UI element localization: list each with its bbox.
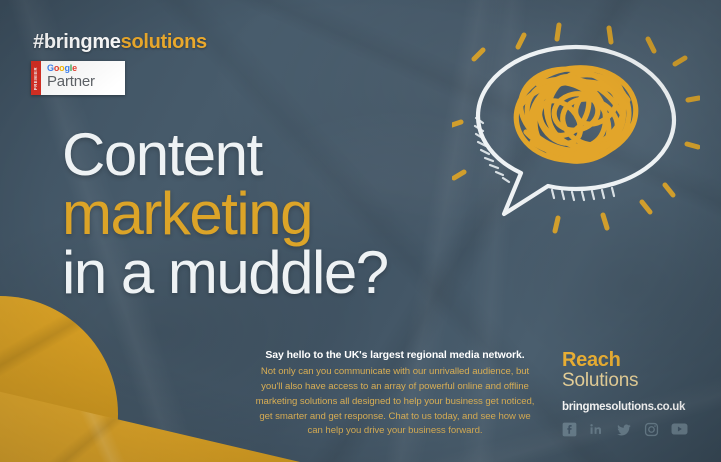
- social-links: [562, 422, 688, 437]
- google-partner-badge: PREMIER Google Partner: [31, 61, 125, 95]
- copy-lead-bold: Say hello: [265, 349, 310, 361]
- speech-bubble-illustration: [452, 22, 700, 242]
- badge-body: Google Partner: [41, 61, 125, 95]
- advertisement-canvas: #bringmesolutions PREMIER Google Partner…: [0, 0, 721, 462]
- brand-website-url[interactable]: bringmesolutions.co.uk: [562, 401, 688, 413]
- copy-lead-rest: to the UK's largest regional media netwo…: [311, 349, 525, 361]
- twitter-icon[interactable]: [616, 422, 632, 437]
- headline: Content marketing in a muddle?: [62, 126, 388, 301]
- headline-line-1: Content: [62, 126, 388, 183]
- copy-body-line: Not only can you communicate with our un…: [244, 365, 546, 380]
- copy-body-line: get smarter and get response. Chat to us…: [244, 410, 546, 425]
- facebook-icon[interactable]: [562, 422, 577, 437]
- copy-body-line: marketing solutions all designed to help…: [244, 395, 546, 410]
- body-copy: Say hello to the UK's largest regional m…: [244, 349, 546, 439]
- brand-name-reach: Reach: [562, 350, 688, 371]
- brand-block: Reach Solutions bringmesolutions.co.uk: [562, 350, 688, 437]
- copy-lead-line: Say hello to the UK's largest regional m…: [244, 349, 546, 361]
- linkedin-icon[interactable]: [589, 422, 604, 437]
- premier-label: PREMIER: [34, 66, 39, 89]
- google-letter-g: G: [47, 63, 54, 73]
- google-wordmark: Google: [47, 64, 125, 73]
- youtube-icon[interactable]: [671, 422, 688, 436]
- campaign-hashtag: #bringmesolutions: [33, 31, 207, 54]
- copy-paragraph: Not only can you communicate with our un…: [244, 365, 546, 439]
- hashtag-white-text: #bringme: [33, 31, 121, 53]
- premier-ribbon: PREMIER: [31, 61, 41, 95]
- hashtag-gold-text: solutions: [121, 31, 207, 53]
- brand-name-solutions: Solutions: [562, 371, 688, 392]
- tangled-scribble-icon: [510, 54, 643, 177]
- partner-label: Partner: [47, 74, 125, 89]
- copy-body-line: you'll also have access to an array of p…: [244, 380, 546, 395]
- google-letter-e: e: [72, 63, 77, 73]
- instagram-icon[interactable]: [644, 422, 659, 437]
- headline-line-2: marketing: [62, 185, 388, 242]
- headline-line-3: in a muddle?: [62, 244, 388, 301]
- copy-body-line: can help you drive your business forward…: [244, 424, 546, 439]
